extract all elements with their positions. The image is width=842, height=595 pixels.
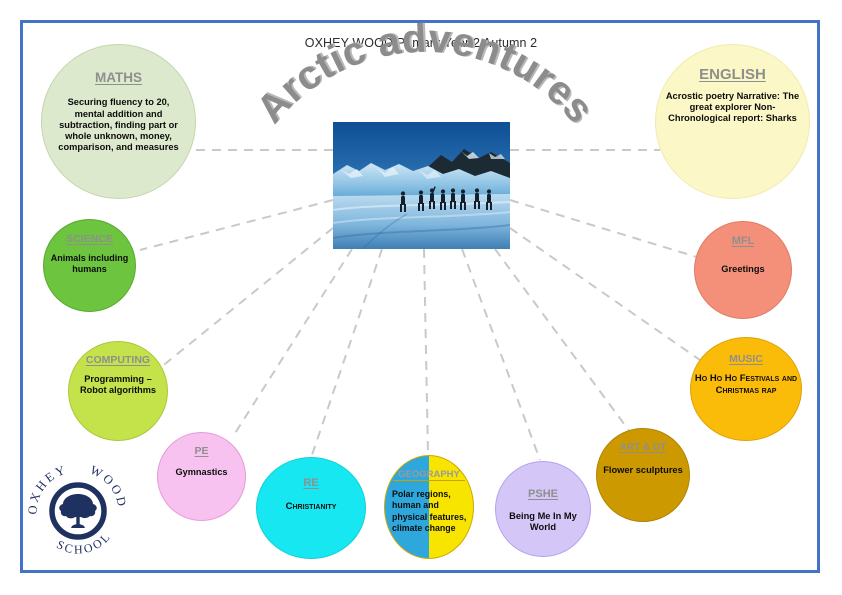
subject-body-geography: Polar regions, human and physical featur…	[385, 489, 474, 535]
subject-bubble-science[interactable]: SCIENCE Animals including humans	[43, 219, 136, 312]
subject-title-english: ENGLISH	[699, 67, 766, 83]
subject-body-english: Acrostic poetry Narrative: The great exp…	[663, 91, 803, 125]
subject-bubble-computing[interactable]: COMPUTING Programming – Robot algorithms	[68, 341, 168, 441]
subject-title-re: RE	[303, 478, 318, 490]
subject-title-mfl: MFL	[732, 236, 755, 248]
glacier-hikers-photo	[333, 122, 510, 249]
subject-title-art-and-dt: ART & DT	[620, 443, 667, 454]
subject-body-pe: Gymnastics	[160, 467, 244, 478]
subject-title-pe: PE	[194, 446, 208, 457]
subject-bubble-pe[interactable]: PE Gymnastics	[157, 432, 246, 521]
svg-text:WOOD: WOOD	[88, 463, 128, 510]
subject-bubble-mfl[interactable]: MFL Greetings	[694, 221, 792, 319]
subject-body-pshe: Being Me In My World	[498, 511, 588, 534]
subject-body-science: Animals including humans	[48, 253, 132, 275]
subject-body-art-and-dt: Flower sculptures	[599, 465, 687, 476]
subject-bubble-art-and-dt[interactable]: ART & DT Flower sculptures	[596, 428, 690, 522]
subject-title-music: MUSIC	[729, 354, 763, 365]
subject-title-pshe: PSHE	[528, 489, 558, 501]
subject-bubble-re[interactable]: RE Christianity	[256, 457, 366, 559]
subject-title-maths: MATHS	[95, 71, 142, 85]
subject-bubble-english[interactable]: ENGLISH Acrostic poetry Narrative: The g…	[655, 44, 810, 199]
subject-bubble-music[interactable]: MUSIC Ho Ho Ho Festivals and Christmas r…	[690, 337, 802, 441]
subject-title-computing: COMPUTING	[86, 355, 150, 366]
subject-body-mfl: Greetings	[697, 264, 789, 275]
oxhey-wood-school-logo: OXHEY WOOD SCHOOL	[28, 456, 128, 560]
subject-body-music: Ho Ho Ho Festivals and Christmas rap	[693, 373, 799, 396]
subject-bubble-maths[interactable]: MATHS Securing fluency to 20, mental add…	[41, 44, 196, 199]
subject-title-geography: GEOGRAPHY	[385, 470, 473, 480]
subject-title-science: SCIENCE	[66, 234, 113, 245]
subject-bubble-geography[interactable]: GEOGRAPHY Polar regions, human and physi…	[384, 455, 474, 559]
logo-word-wood: WOOD	[88, 463, 128, 510]
tree-icon	[59, 494, 96, 528]
subject-bubble-pshe[interactable]: PSHE Being Me In My World	[495, 461, 591, 557]
subject-body-maths: Securing fluency to 20, mental addition …	[53, 97, 185, 154]
subject-body-re: Christianity	[261, 501, 361, 513]
curriculum-mindmap-page: OXHEY WOOD Primary Year 2 Autumn 2 Arcti…	[0, 0, 842, 595]
subject-body-computing: Programming – Robot algorithms	[71, 374, 165, 396]
